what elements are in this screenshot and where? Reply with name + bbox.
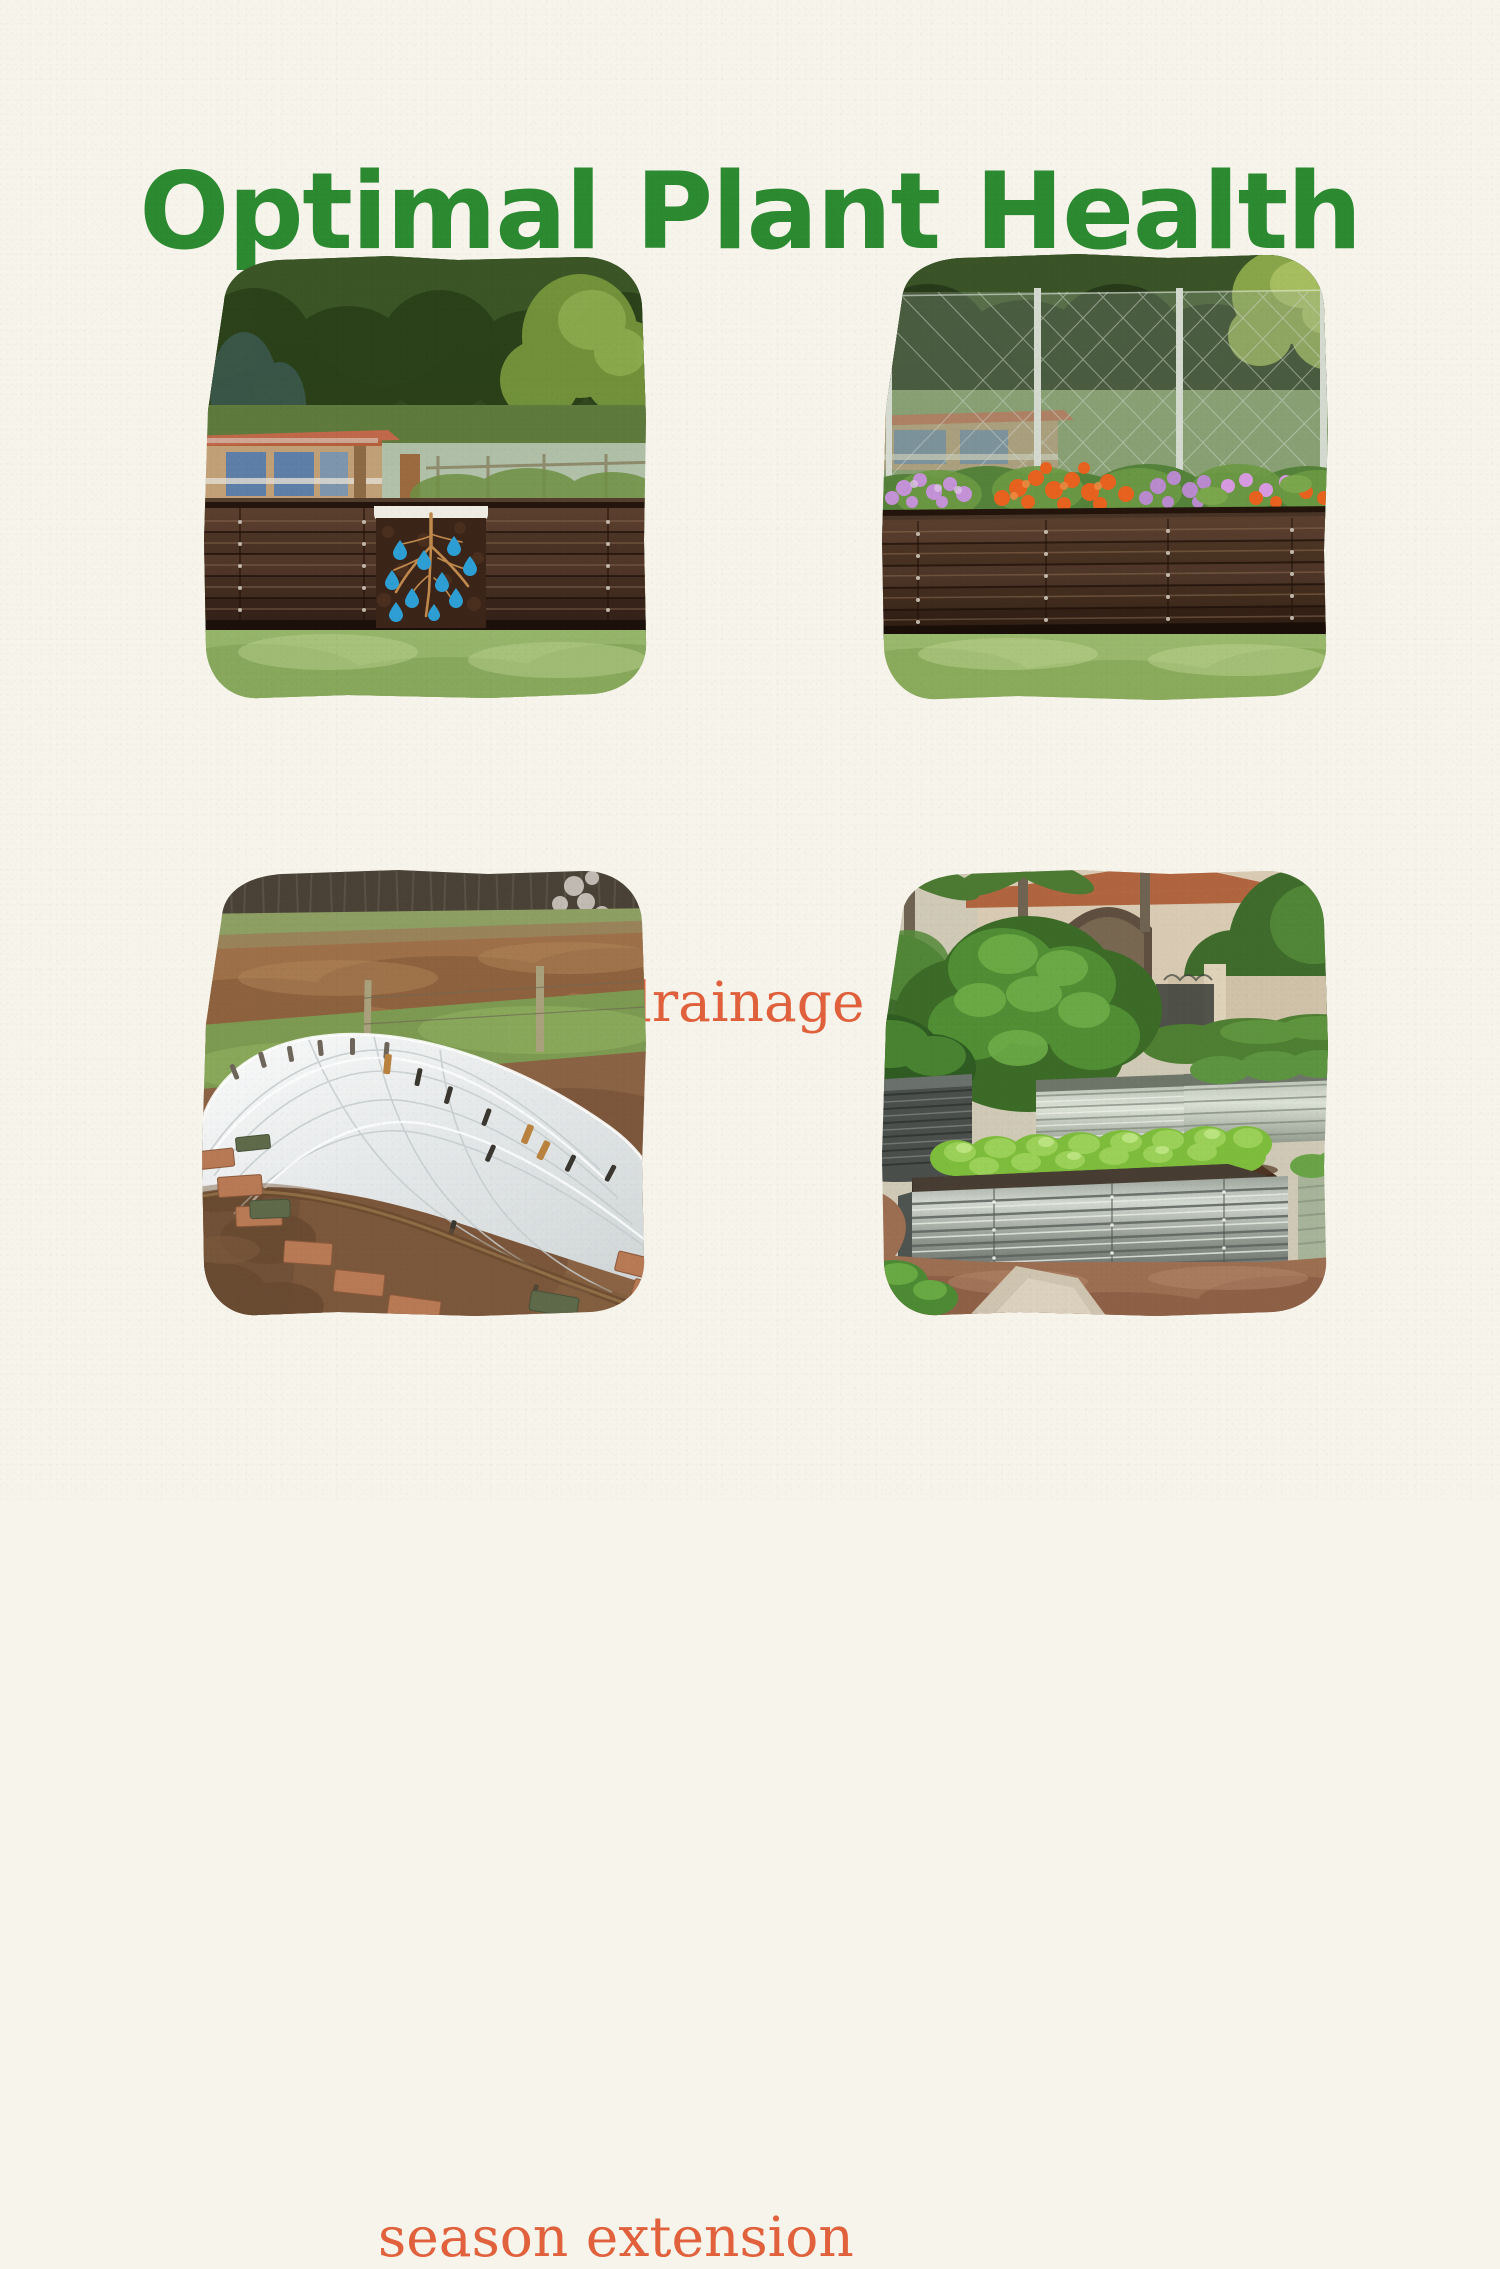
panel-caption-season-extension: season extension bbox=[378, 2210, 854, 2265]
poster-root: Optimal Plant Health bbox=[0, 0, 1500, 1500]
panel-image-pest-protection bbox=[868, 240, 1342, 714]
panel-image-soil-health bbox=[868, 858, 1342, 1332]
feature-grid: improved drainage bbox=[0, 0, 1500, 1500]
panel-image-season-extension bbox=[188, 858, 662, 1332]
panel-image-improved-drainage bbox=[188, 240, 662, 714]
